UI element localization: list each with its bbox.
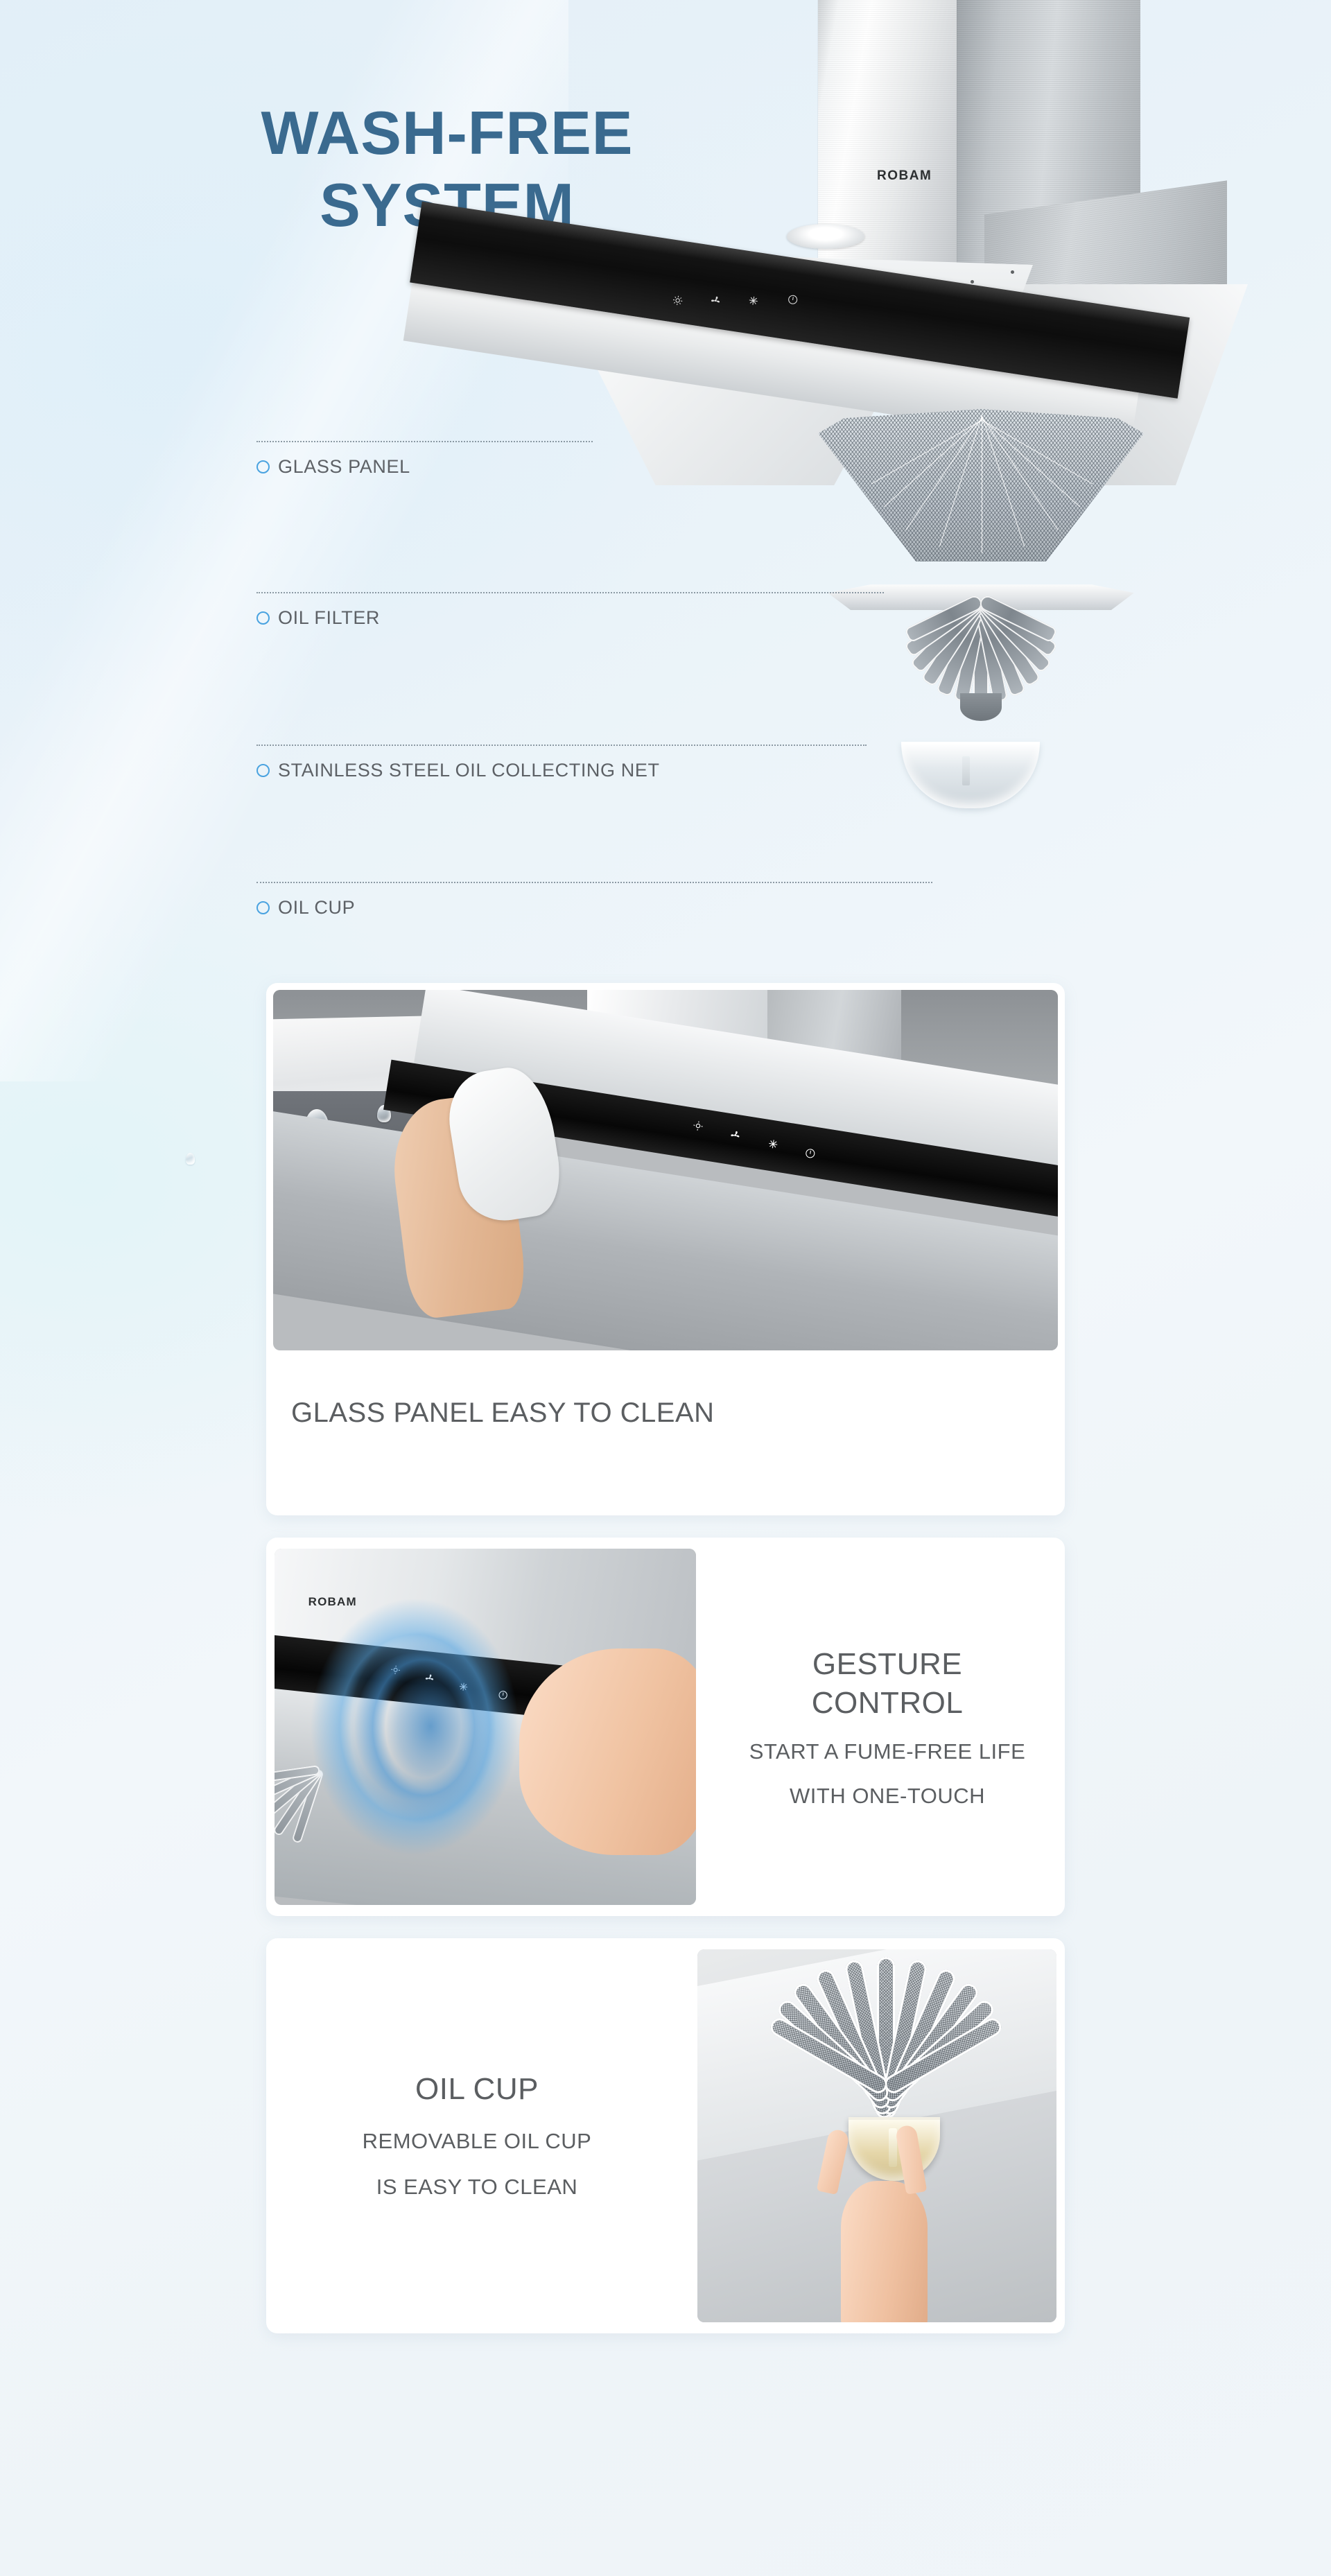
fan-icon [709, 294, 722, 306]
robam-logo: ROBAM [877, 168, 932, 184]
card-image-glass-panel-cleaning [273, 990, 1058, 1350]
callout-label: OIL FILTER [278, 607, 380, 629]
power-icon [804, 1147, 817, 1159]
feature-card-gesture-control[interactable]: ROBAM GESTURE CONTROL START A FUME-FREE … [266, 1538, 1065, 1916]
card-subtitle-line-2: IS EASY TO CLEAN [376, 2175, 578, 2200]
feature-card-oil-cup[interactable]: OIL CUP REMOVABLE OIL CUP IS EASY TO CLE… [266, 1938, 1065, 2333]
card-image-gesture-control: ROBAM [275, 1549, 696, 1905]
callout-bullet-icon [256, 764, 270, 777]
card-subtitle-line-1: REMOVABLE OIL CUP [363, 2129, 592, 2154]
card-image-oil-cup [697, 1949, 1056, 2322]
feature-card-glass-panel[interactable]: GLASS PANEL EASY TO CLEAN [266, 983, 1065, 1515]
oil-filter-mesh [818, 409, 1144, 562]
callout-label: STAINLESS STEEL OIL COLLECTING NET [278, 760, 660, 781]
card-text-block: GESTURE CONTROL START A FUME-FREE LIFE W… [710, 1538, 1065, 1916]
hand-illustration [841, 2181, 927, 2322]
card-heading-line-1: GESTURE [812, 1647, 962, 1681]
oil-cup-part [901, 742, 1040, 808]
range-hood-lamp [787, 224, 864, 249]
light-icon [672, 294, 684, 306]
clean-icon [767, 1138, 779, 1151]
oil-collecting-net-blades [719, 1957, 1050, 2136]
callout-label: OIL CUP [278, 897, 355, 919]
gesture-ripple-inner [385, 1664, 476, 1789]
card-text-block: OIL CUP REMOVABLE OIL CUP IS EASY TO CLE… [266, 1938, 688, 2333]
light-icon [692, 1120, 704, 1133]
fan-icon [729, 1129, 742, 1142]
clean-icon [747, 295, 760, 307]
robam-logo: ROBAM [308, 1595, 357, 1609]
power-icon [787, 293, 799, 306]
exploded-product-illustration: ROBAM [471, 0, 1331, 964]
hand-illustration [519, 1648, 696, 1855]
stainless-steel-oil-collecting-net [818, 582, 1144, 731]
card-subtitle-line-1: START A FUME-FREE LIFE [749, 1739, 1026, 1764]
decorative-water-droplet [186, 1153, 195, 1165]
card-heading-line-2: CONTROL [812, 1686, 964, 1720]
card-heading: OIL CUP [415, 2072, 539, 2107]
callout-bullet-icon [256, 460, 270, 473]
callout-bullet-icon [256, 611, 270, 625]
card-caption: GLASS PANEL EASY TO CLEAN [291, 1398, 715, 1429]
callout-bullet-icon [256, 901, 270, 914]
callout-label: GLASS PANEL [278, 456, 410, 478]
card-subtitle-line-2: WITH ONE-TOUCH [790, 1784, 985, 1809]
